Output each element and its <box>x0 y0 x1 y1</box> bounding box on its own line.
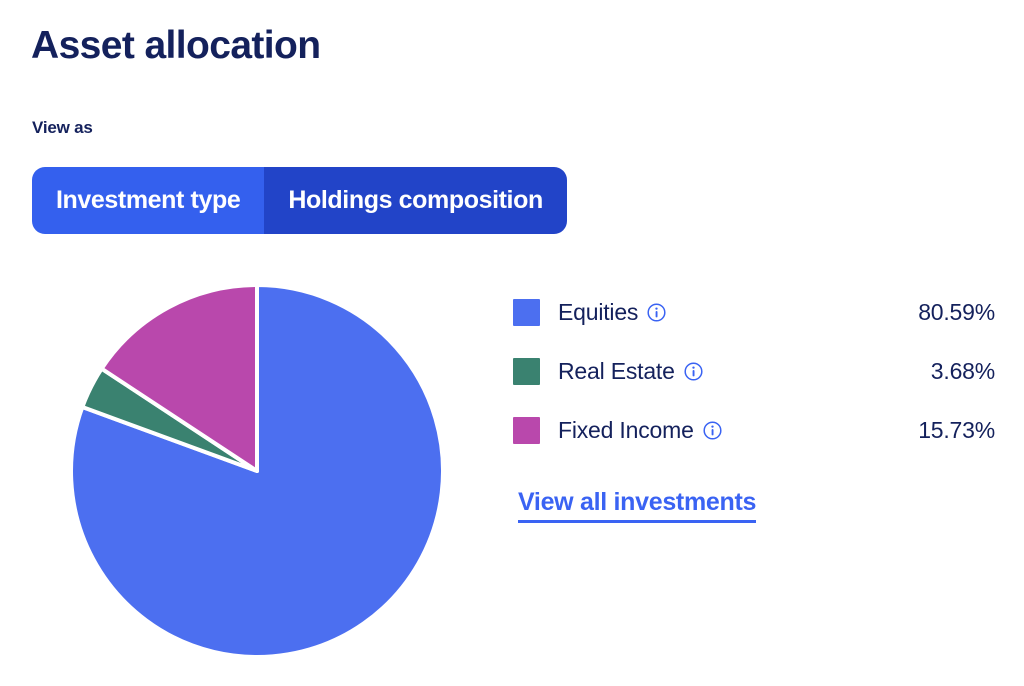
legend-value-real-estate: 3.68% <box>931 358 995 385</box>
info-circle-icon[interactable] <box>703 421 722 440</box>
page-title: Asset allocation <box>31 24 321 69</box>
legend-swatch-equities <box>513 299 540 326</box>
legend-value-equities: 80.59% <box>918 299 995 326</box>
tab-investment-type-label: Investment type <box>56 186 240 215</box>
legend-item-real-estate[interactable]: Real Estate 3.68% <box>513 351 995 391</box>
view-as-label: View as <box>32 118 93 138</box>
legend-swatch-real-estate <box>513 358 540 385</box>
chart-legend: Equities 80.59% Real Estate 3.68% <box>513 292 995 469</box>
view-as-segmented-control[interactable]: Investment type Holdings composition <box>32 167 567 234</box>
tab-investment-type[interactable]: Investment type <box>32 167 264 234</box>
legend-label-real-estate: Real Estate <box>558 358 675 385</box>
tab-holdings-composition[interactable]: Holdings composition <box>264 167 567 234</box>
legend-label-fixed-income: Fixed Income <box>558 417 694 444</box>
pie-chart-svg <box>69 283 445 659</box>
legend-item-equities[interactable]: Equities 80.59% <box>513 292 995 332</box>
legend-value-fixed-income: 15.73% <box>918 417 995 444</box>
tab-holdings-composition-label: Holdings composition <box>288 186 543 215</box>
view-all-investments-link[interactable]: View all investments <box>518 488 756 523</box>
pie-chart <box>69 283 445 659</box>
info-circle-icon[interactable] <box>647 303 666 322</box>
legend-swatch-fixed-income <box>513 417 540 444</box>
info-circle-icon[interactable] <box>684 362 703 381</box>
legend-label-equities: Equities <box>558 299 638 326</box>
legend-item-fixed-income[interactable]: Fixed Income 15.73% <box>513 410 995 450</box>
asset-allocation-chart-area: Equities 80.59% Real Estate 3.68% <box>0 270 1024 686</box>
